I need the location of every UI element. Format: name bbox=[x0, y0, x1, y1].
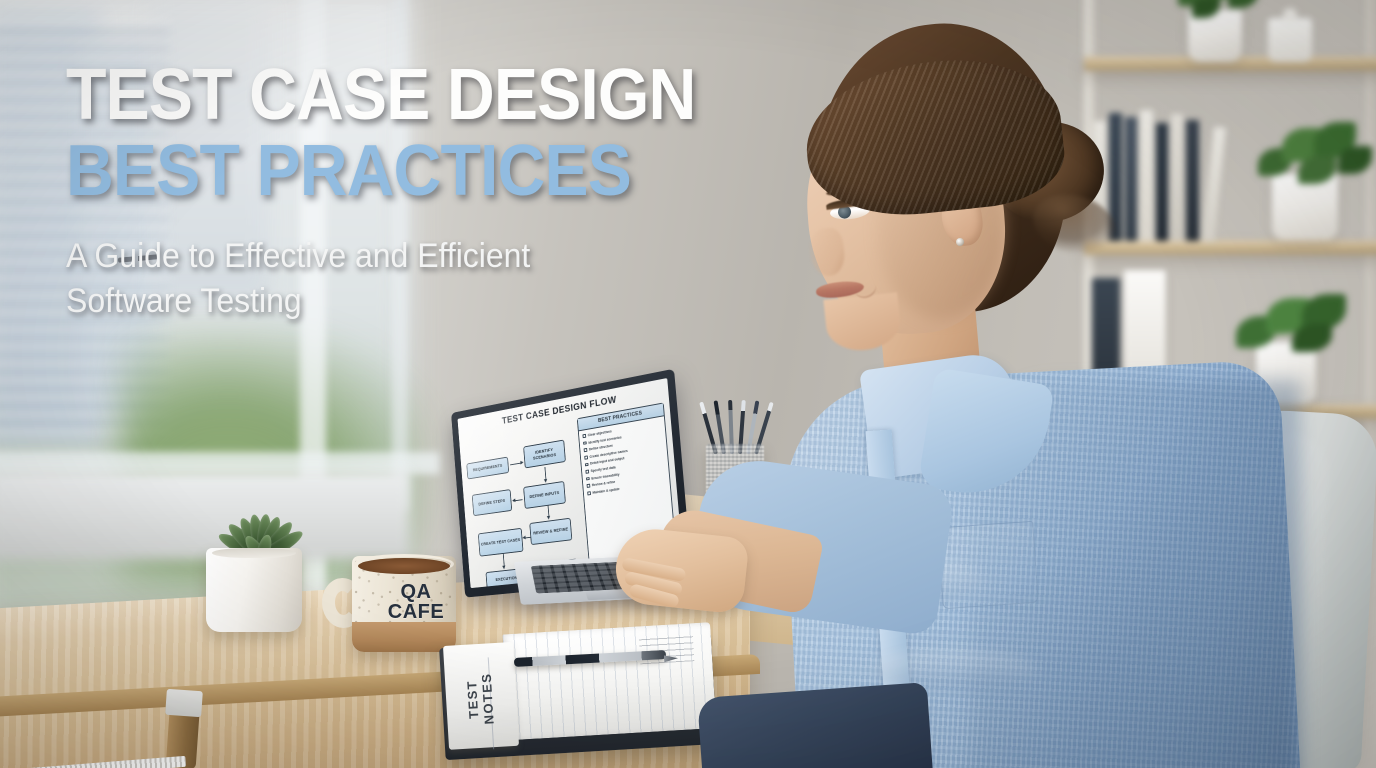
succulent-pot bbox=[206, 548, 302, 632]
checkbox-icon[interactable] bbox=[586, 477, 589, 481]
hero-banner-image: QA CAFE TEST CASE DESIGN FLOW REQUIREMEN… bbox=[0, 0, 1376, 768]
jeans bbox=[697, 682, 933, 768]
checkbox-icon[interactable] bbox=[585, 470, 588, 474]
checklist-label: Define structure bbox=[589, 444, 613, 452]
title-line-accent: BEST PRACTICES bbox=[66, 134, 765, 208]
checkbox-icon[interactable] bbox=[587, 491, 590, 495]
desk-leg-collar bbox=[165, 689, 203, 717]
flow-node-define-inputs[interactable]: DEFINE INPUTS bbox=[523, 481, 566, 509]
checkbox-icon[interactable] bbox=[582, 434, 585, 438]
title-line-primary: TEST CASE DESIGN bbox=[66, 58, 765, 132]
checkbox-icon[interactable] bbox=[584, 455, 587, 459]
checkbox-icon[interactable] bbox=[585, 463, 588, 467]
subtitle: A Guide to Effective and Efficient Softw… bbox=[66, 234, 780, 324]
flow-node-define-steps[interactable]: DEFINE STEPS bbox=[472, 489, 512, 516]
flow-arrowhead-3 bbox=[512, 498, 515, 502]
flow-node-review-refine[interactable]: REVIEW & REFINE bbox=[529, 518, 572, 545]
flow-arrowhead-1 bbox=[520, 460, 523, 464]
subtitle-line-1: A Guide to Effective and Efficient bbox=[66, 234, 780, 279]
notebook-label: TEST NOTES bbox=[463, 654, 498, 744]
flow-arrowhead-6 bbox=[502, 566, 505, 570]
flow-arrowhead-2 bbox=[544, 479, 548, 483]
notebook-page-left: TEST NOTES bbox=[443, 642, 519, 750]
checkbox-icon[interactable] bbox=[587, 484, 590, 488]
earring bbox=[956, 238, 964, 246]
flowchart: REQUIREMENTS IDENTIFY SCENARIOS DEFINE I… bbox=[465, 422, 582, 583]
flow-node-create-test-cases[interactable]: CREATE TEST CASES bbox=[478, 528, 524, 557]
checkbox-icon[interactable] bbox=[583, 441, 586, 445]
checklist-label: Specify test data bbox=[591, 465, 616, 473]
title-block: TEST CASE DESIGN BEST PRACTICES A Guide … bbox=[66, 58, 826, 324]
checkbox-icon[interactable] bbox=[584, 448, 587, 452]
flow-arrowhead-5 bbox=[522, 535, 525, 539]
subtitle-line-2: Software Testing bbox=[66, 279, 780, 324]
checklist-label: Review & refine bbox=[592, 480, 616, 487]
flow-node-requirements[interactable]: REQUIREMENTS bbox=[466, 457, 509, 480]
flow-node-identify-scenarios[interactable]: IDENTIFY SCENARIOS bbox=[523, 440, 566, 469]
flow-arrowhead-4 bbox=[546, 516, 550, 520]
checklist-label: Maintain & update bbox=[592, 487, 619, 495]
